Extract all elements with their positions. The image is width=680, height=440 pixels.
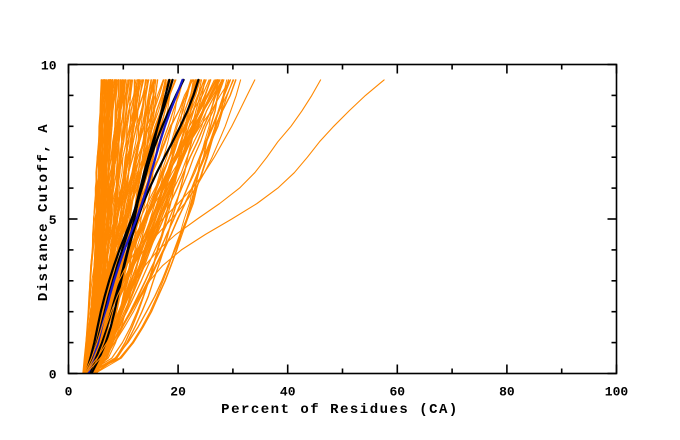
plot-canvas: 0204060801000510 [0, 0, 680, 440]
x-tick-label: 60 [389, 385, 405, 400]
x-tick-label: 80 [499, 385, 515, 400]
y-axis-label: Distance Cutoff, A [36, 82, 52, 342]
x-tick-label: 100 [605, 385, 629, 400]
x-tick-label: 20 [170, 385, 186, 400]
x-tick-label: 40 [280, 385, 296, 400]
x-tick-label: 0 [65, 385, 73, 400]
y-tick-label: 10 [41, 59, 57, 74]
chart-figure: T0990 0204060801000510 Percent of Residu… [0, 0, 680, 440]
x-axis-label: Percent of Residues (CA) [0, 402, 680, 418]
y-tick-label: 0 [49, 368, 57, 383]
